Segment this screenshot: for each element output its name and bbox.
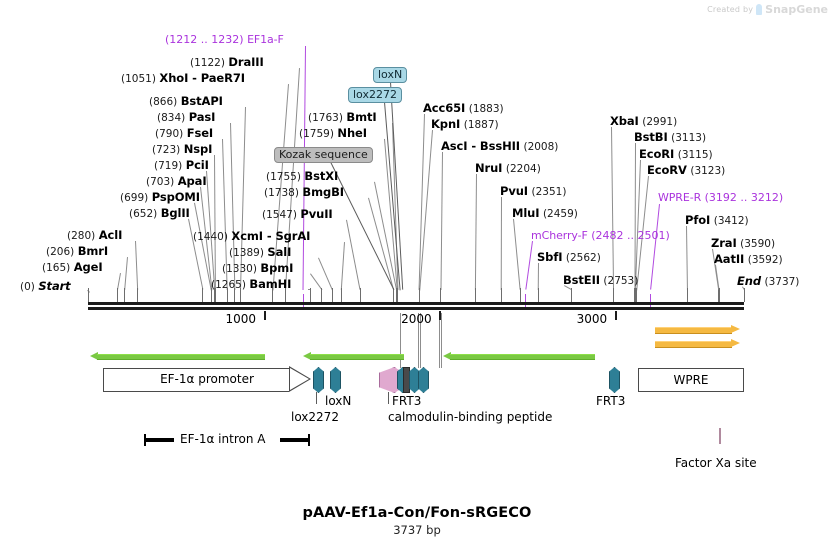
enzyme-label-end[interactable]: End (3737) [737,275,799,288]
enzyme-position: (790) [155,128,183,140]
enzyme-leader-line [303,46,306,290]
enzyme-position: (703) [146,176,174,188]
feature-site-lox2272[interactable] [313,367,324,393]
enzyme-position: (206) [46,246,74,258]
enzyme-name: BstAPI [181,94,223,108]
intron-bar-left [146,438,174,442]
snapgene-logo-icon [756,4,762,15]
feature-site-frt3-d[interactable] [609,367,620,393]
feature-ef1a-promoter[interactable]: EF-1α promoter [103,368,311,390]
enzyme-label-bstapi[interactable]: (866) BstAPI [149,95,223,108]
enzyme-leader-line [341,242,345,290]
enzyme-label-fsei[interactable]: (790) FseI [155,127,213,140]
enzyme-label-mlui[interactable]: MluI (2459) [512,207,578,220]
enzyme-name: NspI [184,142,213,156]
enzyme-name: AgeI [74,260,103,274]
enzyme-name: BmgBI [302,185,344,199]
enzyme-name: BglII [161,206,190,220]
enzyme-leader-line [124,257,128,290]
enzyme-cut-tick [117,288,118,302]
feature-site-calmodulin-binding-peptide[interactable] [379,367,399,393]
enzyme-name: NheI [337,126,367,140]
feature-label-factor-xa: Factor Xa site [675,456,757,470]
enzyme-leader-line [310,273,322,290]
enzyme-name: DraIII [228,55,263,69]
arrow-shaft [450,354,595,360]
enzyme-name: End [737,274,761,288]
enzyme-position: (2562) [566,252,601,264]
enzyme-label-acc65i[interactable]: Acc65I (1883) [423,102,504,115]
enzyme-label-bstxi[interactable]: (1755) BstXI [266,170,338,183]
enzyme-name: Acc65I [423,101,465,115]
enzyme-label-pvuii[interactable]: (1547) PvuII [262,208,333,221]
enzyme-position: (0) [20,281,35,293]
enzyme-label-wpre-r[interactable]: WPRE-R (3192 .. 3212) [658,192,783,204]
arrow-head-right-icon [731,325,740,333]
ruler-tick-label: 3000 [577,312,608,326]
enzyme-name: NruI [475,161,502,175]
enzyme-cut-tick [719,288,720,302]
green-arrow-3[interactable] [443,352,595,360]
enzyme-label-aatii[interactable]: AatII (3592) [714,253,783,266]
enzyme-cut-tick [501,288,502,302]
enzyme-position: (652) [129,208,157,220]
enzyme-leader-line [501,197,502,290]
enzyme-position: (3115) [678,149,713,161]
enzyme-name: EcoRI [639,147,674,161]
enzyme-cut-tick [687,288,688,302]
enzyme-name: SalI [267,245,291,259]
enzyme-position: (1051) [121,73,156,85]
enzyme-name: WPRE-R [658,191,701,204]
feature-label-lox2272[interactable]: lox2272 [348,87,402,103]
intron-bar-right [280,438,308,442]
feature-label-frt3-text-2: FRT3 [596,394,625,408]
enzyme-label-bmgbi[interactable]: (1738) BmgBI [264,186,344,199]
enzyme-position: (1763) [308,112,343,124]
enzyme-label-bstEII[interactable]: BstEII (2753) [563,274,638,287]
arrow-shaft [310,354,404,360]
enzyme-name: PasI [189,110,216,124]
enzyme-label-xcmi-sgrai[interactable]: (1440) XcmI - SgrAI [193,230,310,243]
enzyme-position: (3123) [690,165,725,177]
ruler-major-tick [615,311,617,320]
feature-label-promoter: EF-1α promoter [103,368,311,390]
arrow-head-right-icon [731,339,740,347]
arrow-shaft [97,354,265,360]
enzyme-leader-line [686,226,688,290]
enzyme-name: PspOMI [152,190,200,204]
watermark-brand: SnapGene [765,3,828,16]
enzyme-name: Start [38,279,70,293]
ruler-tick-label: 2000 [401,312,432,326]
feature-label-calmodulin-text: calmodulin-binding peptide [388,410,552,424]
enzyme-name: AclI [99,228,123,242]
feature-site-frt3-c[interactable] [418,367,429,393]
enzyme-name: FseI [187,126,213,140]
enzyme-label-zrai[interactable]: ZraI (3590) [711,237,775,250]
enzyme-label-nrui[interactable]: NruI (2204) [475,162,541,175]
enzyme-label-agei[interactable]: (165) AgeI [42,261,103,274]
enzyme-cut-tick [475,288,476,302]
enzyme-position: (866) [149,96,177,108]
enzyme-label-sbfi[interactable]: SbfI (2562) [537,251,601,264]
enzyme-name: BpmI [260,261,293,275]
enzyme-name: PvuI [500,184,528,198]
feature-label-intron: EF-1α intron A [180,432,265,446]
enzyme-label-bpmi[interactable]: (1330) BpmI [222,262,293,275]
enzyme-cut-tick [419,288,420,302]
enzyme-cut-tick [538,288,539,302]
enzyme-name: AscI - BssHII [441,139,520,153]
green-arrow-1[interactable] [90,352,265,360]
intron-cap-right [308,434,310,446]
feature-tick-lox2272 [316,392,317,404]
enzyme-cut-tick [310,288,311,302]
enzyme-leader-line [650,204,660,290]
enzyme-name: ZraI [711,236,737,250]
feature-label-loxn[interactable]: loxN [373,67,407,83]
enzyme-label-sali[interactable]: (1389) SalI [229,246,291,259]
enzyme-position: (1330) [222,263,257,275]
enzyme-position: (1759) [299,128,334,140]
enzyme-label-pcii[interactable]: (719) PciI [154,159,209,172]
enzyme-label-nhei[interactable]: (1759) NheI [299,127,367,140]
ruler-tick-label: 1000 [226,312,257,326]
enzyme-cut-tick [202,288,203,302]
enzyme-position: (699) [120,192,148,204]
enzyme-position: (2351) [532,186,567,198]
enzyme-position: (3412) [714,215,749,227]
enzyme-label-pvui[interactable]: PvuI (2351) [500,185,566,198]
enzyme-label-ecori[interactable]: EcoRI (3115) [639,148,713,161]
enzyme-label-ecorv[interactable]: EcoRV (3123) [647,164,725,177]
snapgene-watermark: Created by SnapGene [707,3,828,16]
enzyme-label-asci-bsshii[interactable]: AscI - BssHII (2008) [441,140,558,153]
enzyme-position: (1440) [193,231,228,243]
enzyme-label-bamhi[interactable]: (1265) BamHI [211,278,291,291]
enzyme-position: (2459) [543,208,578,220]
enzyme-label-nspi[interactable]: (723) NspI [152,143,212,156]
enzyme-name: KpnI [431,117,460,131]
feature-site-linker[interactable] [403,367,410,393]
enzyme-name: PfoI [685,213,710,227]
enzyme-cut-tick [88,288,89,302]
enzyme-cut-tick [613,288,614,302]
enzyme-label-ef1a-f[interactable]: (1212 .. 1232) EF1a-F [165,34,284,46]
enzyme-position: (2991) [642,116,677,128]
enzyme-name: XbaI [610,114,639,128]
enzyme-leader-line [318,258,333,290]
sequence-backbone-bottom[interactable] [88,307,744,310]
enzyme-label-pfoi[interactable]: PfoI (3412) [685,214,749,227]
enzyme-name: EF1a-F [247,33,284,46]
enzyme-name: BmrI [78,244,108,258]
feature-drop-line [441,313,442,368]
feature-wpre[interactable]: WPRE [638,368,744,392]
enzyme-leader-line [475,174,477,290]
enzyme-position: (1265) [211,279,246,291]
enzyme-cut-tick [321,288,322,302]
enzyme-position: (165) [42,262,70,274]
enzyme-label-bmti[interactable]: (1763) BmtI [308,111,377,124]
enzyme-position: (1212 .. 1232) [165,33,244,46]
enzyme-leader-line [525,241,533,290]
ruler-major-tick [264,311,266,320]
enzyme-name: XcmI - SgrAI [231,229,310,243]
enzyme-name: BstXI [304,169,338,183]
feature-label-lox2272-text: lox2272 [291,410,339,424]
enzyme-position: (3113) [671,132,706,144]
feature-label-frt3-text-1: FRT3 [392,394,421,408]
enzyme-cut-tick [341,288,342,302]
enzyme-name: BamHI [249,277,291,291]
arrow-shaft [655,341,732,348]
feature-site-loxn[interactable] [330,367,341,393]
enzyme-position: (1547) [262,209,297,221]
watermark-prefix: Created by [707,5,753,14]
enzyme-label-bglii[interactable]: (652) BglII [129,207,190,220]
enzyme-cut-tick [137,288,138,302]
enzyme-position: (3590) [740,238,775,250]
enzyme-leader-line [135,241,138,290]
enzyme-position: (3192 .. 3212) [705,191,784,204]
enzyme-name: SbfI [537,250,562,264]
enzyme-name: BstEII [563,273,600,287]
enzyme-name: EcoRV [647,163,687,177]
enzyme-position: (2008) [523,141,558,153]
orange-arrow-2[interactable] [655,339,740,348]
enzyme-cut-tick [440,288,441,302]
enzyme-leader-line [440,152,443,290]
enzyme-label-kpni[interactable]: KpnI (1887) [431,118,499,131]
enzyme-position: (1887) [464,119,499,131]
enzyme-name: mCherry-F [531,229,588,242]
enzyme-name: PvuII [300,207,332,221]
enzyme-position: (2204) [506,163,541,175]
enzyme-name: BstBI [634,130,668,144]
ruler-major-tick [439,311,441,320]
plasmid-length: 3737 bp [0,523,834,537]
feature-tick-calmodulin [388,392,389,404]
enzyme-leader-line [538,263,539,290]
enzyme-position: (3737) [764,276,799,288]
feature-label-wpre: WPRE [639,369,743,391]
enzyme-label-bmri[interactable]: (206) BmrI [46,245,108,258]
enzyme-cut-tick [744,288,745,302]
enzyme-label-bstbi[interactable]: BstBI (3113) [634,131,706,144]
enzyme-label-draiii[interactable]: (1122) DraIII [190,56,264,69]
enzyme-cut-tick [360,288,361,302]
enzyme-position: (3592) [748,254,783,266]
enzyme-label-xhoi-paer7i[interactable]: (1051) XhoI - PaeR7I [121,72,245,85]
arrow-shaft [655,327,732,334]
enzyme-position: (280) [67,230,95,242]
feature-label-loxn-text: loxN [325,394,351,408]
enzyme-name: MluI [512,206,539,220]
enzyme-label-acli[interactable]: (280) AclI [67,229,122,242]
plasmid-title: pAAV-Ef1a-Con/Fon-sRGECO [0,505,834,521]
enzyme-cut-tick [332,288,333,302]
enzyme-cut-tick [650,294,651,308]
enzyme-name: ApaI [178,174,207,188]
enzyme-name: BmtI [346,110,376,124]
enzyme-cut-tick [303,294,304,308]
enzyme-cut-tick [396,288,397,302]
enzyme-label-start[interactable]: (0) Start [20,280,71,293]
enzyme-label-pasi[interactable]: (834) PasI [157,111,215,124]
enzyme-cut-tick [571,288,572,302]
enzyme-label-apai[interactable]: (703) ApaI [146,175,207,188]
enzyme-position: (723) [152,144,180,156]
enzyme-leader-line [330,162,394,290]
enzyme-label-mcherry-f[interactable]: mCherry-F (2482 .. 2501) [531,230,670,242]
enzyme-name: PciI [186,158,209,172]
enzyme-leader-line [346,220,361,290]
enzyme-leader-line [214,155,216,290]
factor-xa-marker[interactable] [719,428,721,444]
enzyme-position: (1389) [229,247,264,259]
enzyme-position: (1122) [190,57,225,69]
enzyme-leader-line [513,219,521,290]
enzyme-position: (719) [154,160,182,172]
feature-label-kozak-sequence[interactable]: Kozak sequence [274,147,373,163]
enzyme-label-pspomi[interactable]: (699) PspOMI [120,191,200,204]
enzyme-cut-tick [124,288,125,302]
enzyme-position: (1738) [264,187,299,199]
green-arrow-2[interactable] [303,352,404,360]
sequence-backbone-top[interactable] [88,302,744,305]
enzyme-leader-line [611,127,614,290]
enzyme-cut-tick [636,288,637,302]
enzyme-position: (1883) [469,103,504,115]
enzyme-name: AatII [714,252,744,266]
enzyme-position: (2753) [603,275,638,287]
orange-arrow-1[interactable] [655,325,740,334]
enzyme-cut-tick [520,288,521,302]
enzyme-position: (834) [157,112,185,124]
enzyme-cut-tick [525,294,526,308]
enzyme-label-xbai[interactable]: XbaI (2991) [610,115,677,128]
enzyme-position: (1755) [266,171,301,183]
enzyme-position: (2482 .. 2501) [591,229,670,242]
enzyme-name: XhoI - PaeR7I [159,71,245,85]
